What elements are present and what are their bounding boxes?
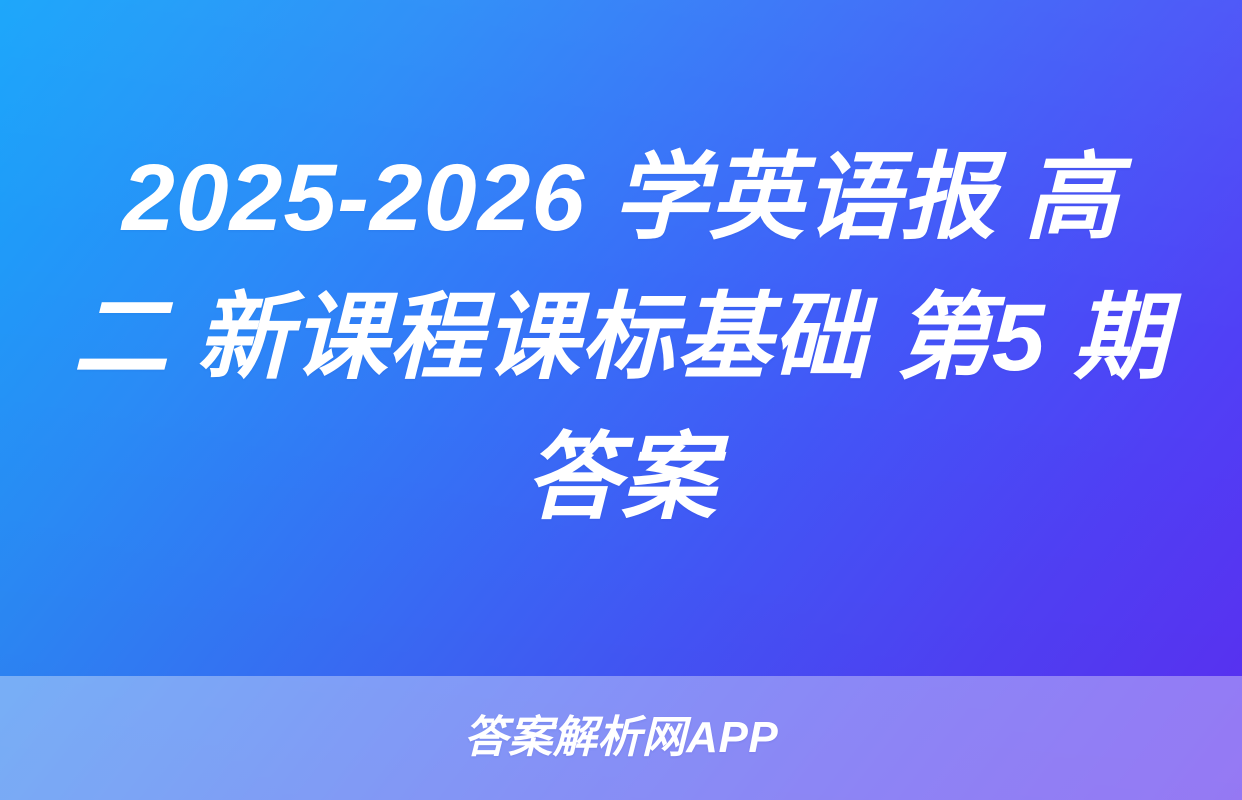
title-line-1: 2025-2026 学英语报 高 (122, 145, 1120, 251)
title-block: 2025-2026 学英语报 高 二 新课程课标基础 第5 期答案 (0, 0, 1242, 676)
poster-canvas: 2025-2026 学英语报 高 二 新课程课标基础 第5 期答案 答案解析网A… (0, 0, 1242, 800)
app-brand-label: 答案解析网APP (464, 716, 778, 760)
page-title: 2025-2026 学英语报 高 二 新课程课标基础 第5 期答案 (62, 128, 1180, 548)
title-line-2: 二 新课程课标基础 第5 (73, 285, 1046, 391)
footer-band: 答案解析网APP (0, 676, 1242, 800)
